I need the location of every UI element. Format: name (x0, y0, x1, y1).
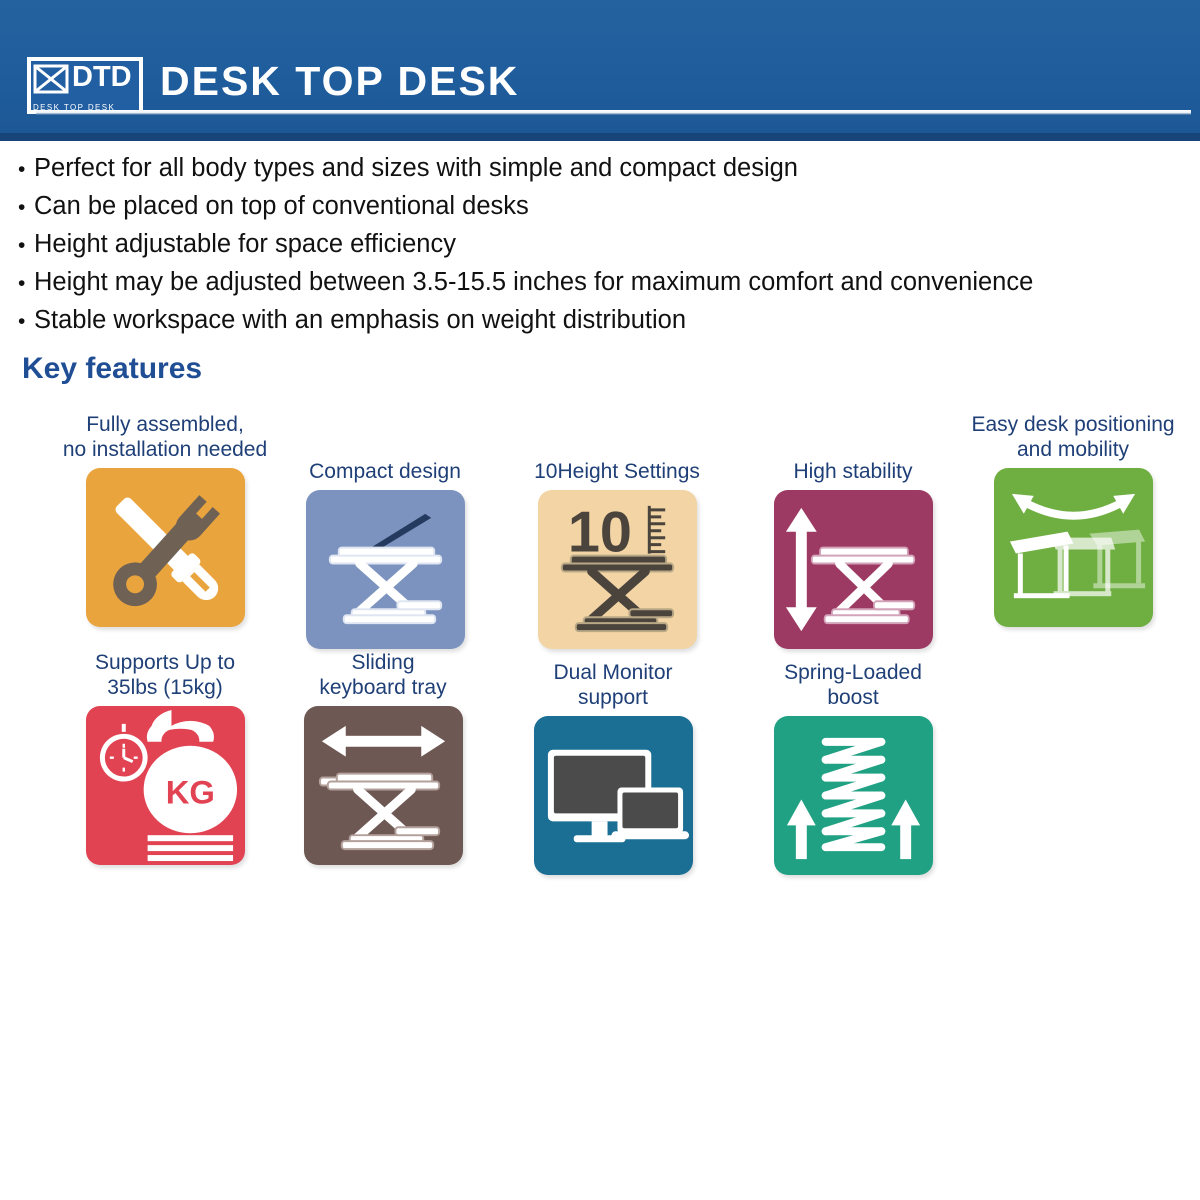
feature-card[interactable]: Fully assembled, no installation needed (60, 410, 270, 627)
feature-card[interactable]: Compact design (280, 432, 490, 649)
key-features-heading: Key features (22, 352, 202, 386)
page-title: DESK TOP DESK (160, 58, 519, 105)
feature-card[interactable]: Dual Monitor support (508, 658, 718, 875)
scissor-lift-desk-laptop-icon (306, 490, 465, 649)
bullet-item: •Can be placed on top of conventional de… (18, 188, 1188, 226)
feature-label: Compact design (280, 432, 490, 484)
monitor-laptop-icon (534, 716, 693, 875)
key-features-row: Fully assembled, no installation needed … (0, 410, 1200, 648)
curved-arrow-moving-desks-icon (994, 468, 1153, 627)
bullet-marker-icon: • (18, 265, 34, 302)
bullet-marker-icon: • (18, 227, 34, 264)
bullet-marker-icon: • (18, 189, 34, 226)
bullet-item: •Stable workspace with an emphasis on we… (18, 302, 1188, 340)
bullet-text: Stable workspace with an emphasis on wei… (34, 302, 686, 339)
bullet-marker-icon: • (18, 151, 34, 188)
key-features-row: Supports Up to 35lbs (15kg) KG (0, 648, 1200, 886)
feature-card[interactable]: Sliding keyboard tray (278, 648, 488, 865)
header-bottom-edge (0, 133, 1200, 141)
bullet-item: •Height may be adjusted between 3.5-15.5… (18, 264, 1188, 302)
feature-label: Supports Up to 35lbs (15kg) (60, 648, 270, 700)
logo-mark-text: DTD (72, 60, 132, 94)
bullet-text: Perfect for all body types and sizes wit… (34, 150, 798, 187)
bullet-marker-icon: • (18, 303, 34, 340)
svg-text:KG: KG (165, 773, 214, 810)
bullet-text: Height adjustable for space efficiency (34, 226, 456, 263)
bullet-item: •Perfect for all body types and sizes wi… (18, 150, 1188, 188)
feature-label: High stability (748, 432, 958, 484)
coil-spring-up-arrows-icon (774, 716, 933, 875)
header-divider (36, 110, 1191, 115)
feature-card[interactable]: High stability (748, 432, 958, 649)
feature-card[interactable]: 10Height Settings 10 (512, 432, 722, 649)
kettlebell-weight-icon: KG (86, 706, 245, 865)
vertical-arrow-desk-icon (774, 490, 933, 649)
bullet-item: •Height adjustable for space efficiency (18, 226, 1188, 264)
page-header: DTD DESK TOP DESK DESK TOP DESK (0, 0, 1200, 141)
feature-label: Dual Monitor support (508, 658, 718, 710)
wrench-screwdriver-icon (86, 468, 245, 627)
feature-label: 10Height Settings (512, 432, 722, 484)
feature-bullet-list: •Perfect for all body types and sizes wi… (18, 150, 1188, 340)
horizontal-arrow-keyboard-tray-icon (304, 706, 463, 865)
bullet-text: Height may be adjusted between 3.5-15.5 … (34, 264, 1033, 301)
ten-height-settings-ruler-icon: 10 (538, 490, 697, 649)
feature-label: Easy desk positioning and mobility (968, 410, 1178, 462)
feature-card[interactable]: Easy desk positioning and mobility (968, 410, 1178, 627)
feature-card[interactable]: Supports Up to 35lbs (15kg) KG (60, 648, 270, 865)
feature-label: Fully assembled, no installation needed (60, 410, 270, 462)
key-features-grid: Fully assembled, no installation needed … (0, 410, 1200, 886)
feature-label: Spring-Loaded boost (748, 658, 958, 710)
x-box-logo-icon (33, 64, 69, 94)
feature-label: Sliding keyboard tray (278, 648, 488, 700)
feature-card[interactable]: Spring-Loaded boost (748, 658, 958, 875)
brand-logo: DTD DESK TOP DESK (27, 57, 143, 114)
bullet-text: Can be placed on top of conventional des… (34, 188, 529, 225)
